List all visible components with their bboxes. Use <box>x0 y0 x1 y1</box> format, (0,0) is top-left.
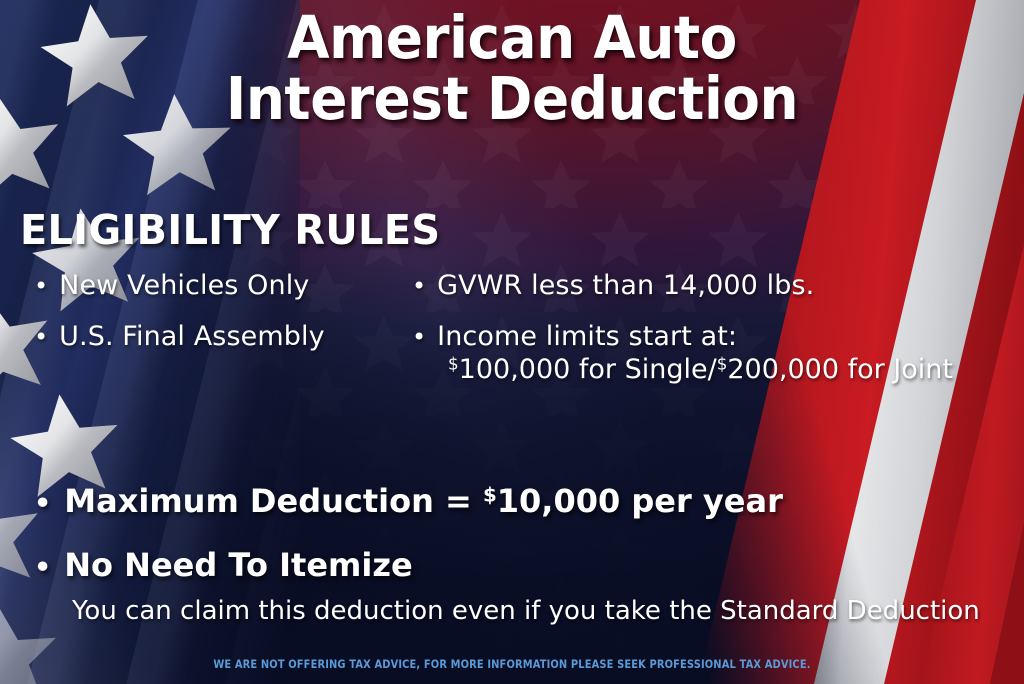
currency-symbol: $ <box>448 353 459 373</box>
currency-symbol: $ <box>483 484 497 507</box>
highlight-amount: 10,000 per year <box>497 482 783 520</box>
title-line-2: Interest Deduction <box>36 69 988 130</box>
list-item: • New Vehicles Only <box>34 272 414 299</box>
highlight-prefix: Maximum Deduction = <box>64 482 483 520</box>
list-item-label: U.S. Final Assembly <box>59 323 325 350</box>
list-item-label: Income limits start at: <box>437 323 737 350</box>
bullet-dot-icon: • <box>412 325 426 349</box>
list-item: • Income limits start at: <box>412 323 1022 350</box>
highlight-max-deduction: • Maximum Deduction = $10,000 per year <box>34 485 783 517</box>
bullet-dot-icon: • <box>34 274 48 298</box>
bullet-dot-icon: • <box>412 274 426 298</box>
list-item: • U.S. Final Assembly <box>34 323 414 350</box>
disclaimer-text: WE ARE NOT OFFERING TAX ADVICE, FOR MORE… <box>72 657 953 671</box>
income-limit-joint: 200,000 for Joint <box>727 354 953 385</box>
title-line-1: American Auto <box>36 8 988 69</box>
income-limits-values: $100,000 for Single/$200,000 for Joint <box>448 356 1022 383</box>
bullet-dot-icon: • <box>34 325 48 349</box>
list-item: • GVWR less than 14,000 lbs. <box>412 272 1022 299</box>
eligibility-bullets-left: • New Vehicles Only • U.S. Final Assembl… <box>34 272 414 374</box>
highlight-text: Maximum Deduction = $10,000 per year <box>64 485 783 517</box>
bullet-dot-icon: • <box>34 554 51 581</box>
star-icon <box>0 601 62 684</box>
bullet-dot-icon: • <box>34 490 51 517</box>
slide-canvas: American Auto Interest Deduction ELIGIBI… <box>0 0 1024 684</box>
page-title: American Auto Interest Deduction <box>36 8 988 130</box>
list-item-label: New Vehicles Only <box>59 272 309 299</box>
highlight-text: No Need To Itemize <box>64 549 412 581</box>
income-limit-single: 100,000 for Single/ <box>459 354 717 385</box>
section-heading: ELIGIBILITY RULES <box>20 206 440 254</box>
list-item-label: GVWR less than 14,000 lbs. <box>437 272 814 299</box>
currency-symbol: $ <box>717 353 728 373</box>
eligibility-bullets-right: • GVWR less than 14,000 lbs. • Income li… <box>412 272 1022 383</box>
highlight-no-itemize: • No Need To Itemize <box>34 549 413 581</box>
standard-deduction-note: You can claim this deduction even if you… <box>72 598 980 624</box>
